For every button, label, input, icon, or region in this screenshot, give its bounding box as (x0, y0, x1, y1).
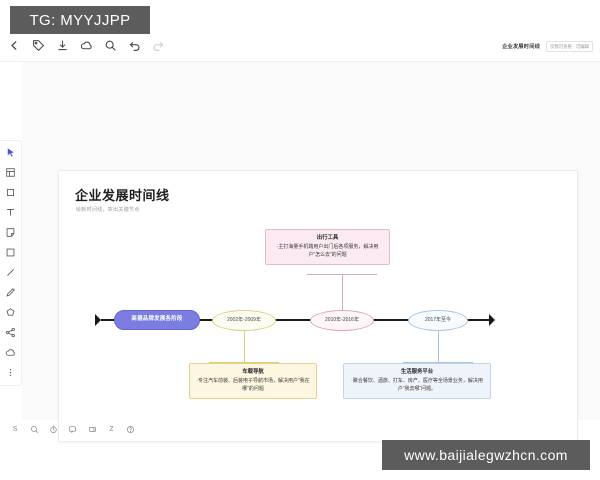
timeline-node-period-2010-2016[interactable]: 2010年-2016年 (310, 310, 374, 331)
timeline-arrow-head (489, 314, 495, 326)
document-permission-badge[interactable]: 仅我可查看 · 可编辑 (546, 41, 593, 52)
tag-icon[interactable] (32, 39, 45, 52)
help-icon[interactable] (126, 424, 136, 435)
top-toolbar: 企业发展时间线 仅我可查看 · 可编辑 (0, 36, 600, 62)
search-icon[interactable] (104, 39, 117, 52)
cloud-icon[interactable] (80, 39, 93, 52)
top-toolbar-left-group (8, 39, 165, 52)
left-tool-rail (0, 140, 22, 386)
layout-tool-icon[interactable] (4, 166, 17, 179)
timeline-node-period-2002-2009[interactable]: 2002年-2009年 (212, 310, 276, 331)
text-tool-icon[interactable] (4, 206, 17, 219)
watermark-bottom: www.baijialegwzhcn.com (382, 440, 590, 470)
zoom-z-icon[interactable]: Z (106, 424, 116, 435)
slide-title: 企业发展时间线 (75, 185, 170, 204)
undo-icon[interactable] (128, 39, 141, 52)
timeline-node-stage-pill[interactable]: 高德品牌发展各阶段 (114, 310, 200, 330)
card-travel-tools[interactable]: 出行工具 ·主打海量手机端用户出门后各项服务，解决用户“怎么去”的问题 (265, 229, 390, 265)
cursor-s-icon[interactable]: S (10, 424, 20, 435)
connector-tool-icon[interactable] (4, 326, 17, 339)
card-car-navigation[interactable]: 车载导航 ·专注汽车前装、后装电子导航市场，解决用户“我在哪”的问题 (189, 363, 317, 399)
line-tool-icon[interactable] (4, 266, 17, 279)
watermark-top: TG: MYYJJPP (10, 6, 150, 34)
bottom-toolbar: S Z (6, 418, 136, 440)
card-car-navigation-heading: 车载导航 (196, 368, 310, 376)
timer-icon[interactable] (49, 424, 59, 435)
slide-subtitle: 绘制时间线，突出关键节点 (76, 206, 140, 213)
connector-pink-vertical (342, 274, 343, 310)
comment-icon[interactable] (29, 424, 39, 435)
document-title[interactable]: 企业发展时间线 (502, 43, 540, 50)
card-life-service-body: ·聚合餐饮、酒旅、打车、房产、医疗等全场景业务，解决用户“我去哪”问题。 (350, 378, 484, 394)
download-icon[interactable] (56, 39, 69, 52)
more-tool-icon[interactable] (4, 366, 17, 379)
card-life-service[interactable]: 生活服务平台 ·聚合餐饮、酒旅、打车、房产、医疗等全场景业务，解决用户“我去哪”… (343, 363, 491, 399)
connector-blue-vertical (438, 331, 439, 363)
chat-icon[interactable] (68, 424, 78, 435)
timeline-node-period-2017-now[interactable]: 2017年至今 (408, 310, 468, 331)
upload-tool-icon[interactable] (4, 346, 17, 359)
shape-tool-icon[interactable] (4, 246, 17, 259)
top-toolbar-right-group: 企业发展时间线 仅我可查看 · 可编辑 (502, 41, 593, 52)
pen-tool-icon[interactable] (4, 286, 17, 299)
slide-card[interactable]: 企业发展时间线 绘制时间线，突出关键节点 高德品牌发展各阶段 2002年-200… (58, 170, 578, 442)
cursor-tool-icon[interactable] (4, 146, 17, 159)
polygon-tool-icon[interactable] (4, 306, 17, 319)
frame-tool-icon[interactable] (4, 186, 17, 199)
card-car-navigation-body: ·专注汽车前装、后装电子导航市场，解决用户“我在哪”的问题 (196, 378, 310, 394)
card-life-service-heading: 生活服务平台 (350, 368, 484, 376)
card-travel-tools-body: ·主打海量手机端用户出门后各项服务，解决用户“怎么去”的问题 (272, 244, 383, 260)
canvas-area[interactable]: 企业发展时间线 绘制时间线，突出关键节点 高德品牌发展各阶段 2002年-200… (22, 62, 600, 420)
connector-yellow-vertical (244, 331, 245, 363)
sticky-note-tool-icon[interactable] (4, 226, 17, 239)
card-travel-tools-heading: 出行工具 (272, 234, 383, 242)
card-icon[interactable] (87, 424, 97, 435)
back-chevron-icon[interactable] (8, 39, 21, 52)
app-window: 企业发展时间线 仅我可查看 · 可编辑 企业发展时间线 绘制时间线，突出关键节点… (0, 0, 600, 480)
redo-icon[interactable] (152, 39, 165, 52)
